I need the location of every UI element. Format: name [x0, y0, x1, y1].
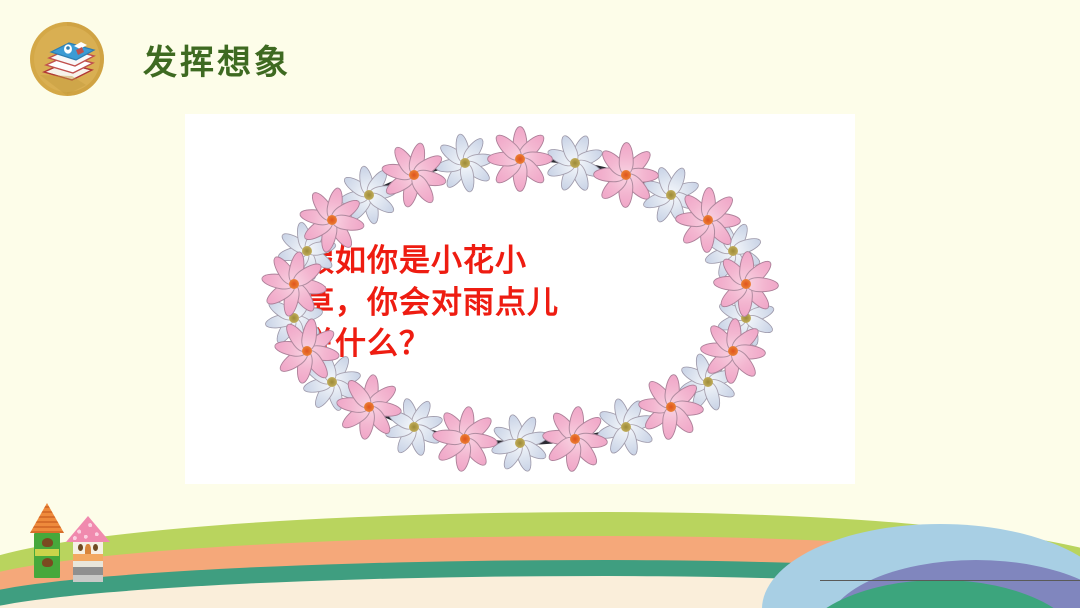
books-badge-icon [28, 20, 106, 98]
question-text: 假如你是小花小草，你会对雨点儿说什么？ [303, 240, 583, 365]
flower-center [666, 190, 676, 200]
horizon-line [820, 580, 1080, 581]
flower-center [570, 158, 580, 168]
rainbow-arc-decoration [760, 428, 1080, 608]
flower-center [703, 215, 713, 225]
flower-center [621, 170, 631, 180]
flower-center [728, 246, 738, 256]
bottom-scenery [0, 488, 1080, 608]
content-panel: 假如你是小花小草，你会对雨点儿说什么？ [185, 114, 855, 484]
flower-center [364, 190, 374, 200]
flower-center [666, 402, 676, 412]
flower-center [327, 377, 337, 387]
flower-center [515, 438, 525, 448]
flower-center [409, 170, 419, 180]
flower-center [515, 154, 525, 164]
page-title: 发挥想象 [143, 46, 291, 80]
flower-center [741, 279, 751, 289]
house-right-icon [73, 516, 103, 582]
flower-center [302, 346, 312, 356]
house-left-icon [34, 503, 60, 578]
flower-center [409, 422, 419, 432]
flower-center [621, 422, 631, 432]
slide-canvas: 发挥想象 假如你是小花小草，你会对雨点儿说什么？ [0, 0, 1080, 608]
flower-center [289, 279, 299, 289]
slide-header: 发挥想象 [0, 0, 1080, 110]
flower-center [728, 346, 738, 356]
flower-center [703, 377, 713, 387]
flower-center [364, 402, 374, 412]
flower-center [570, 434, 580, 444]
flower-center [460, 158, 470, 168]
flower-center [302, 246, 312, 256]
flower-center [460, 434, 470, 444]
flower-center [327, 215, 337, 225]
